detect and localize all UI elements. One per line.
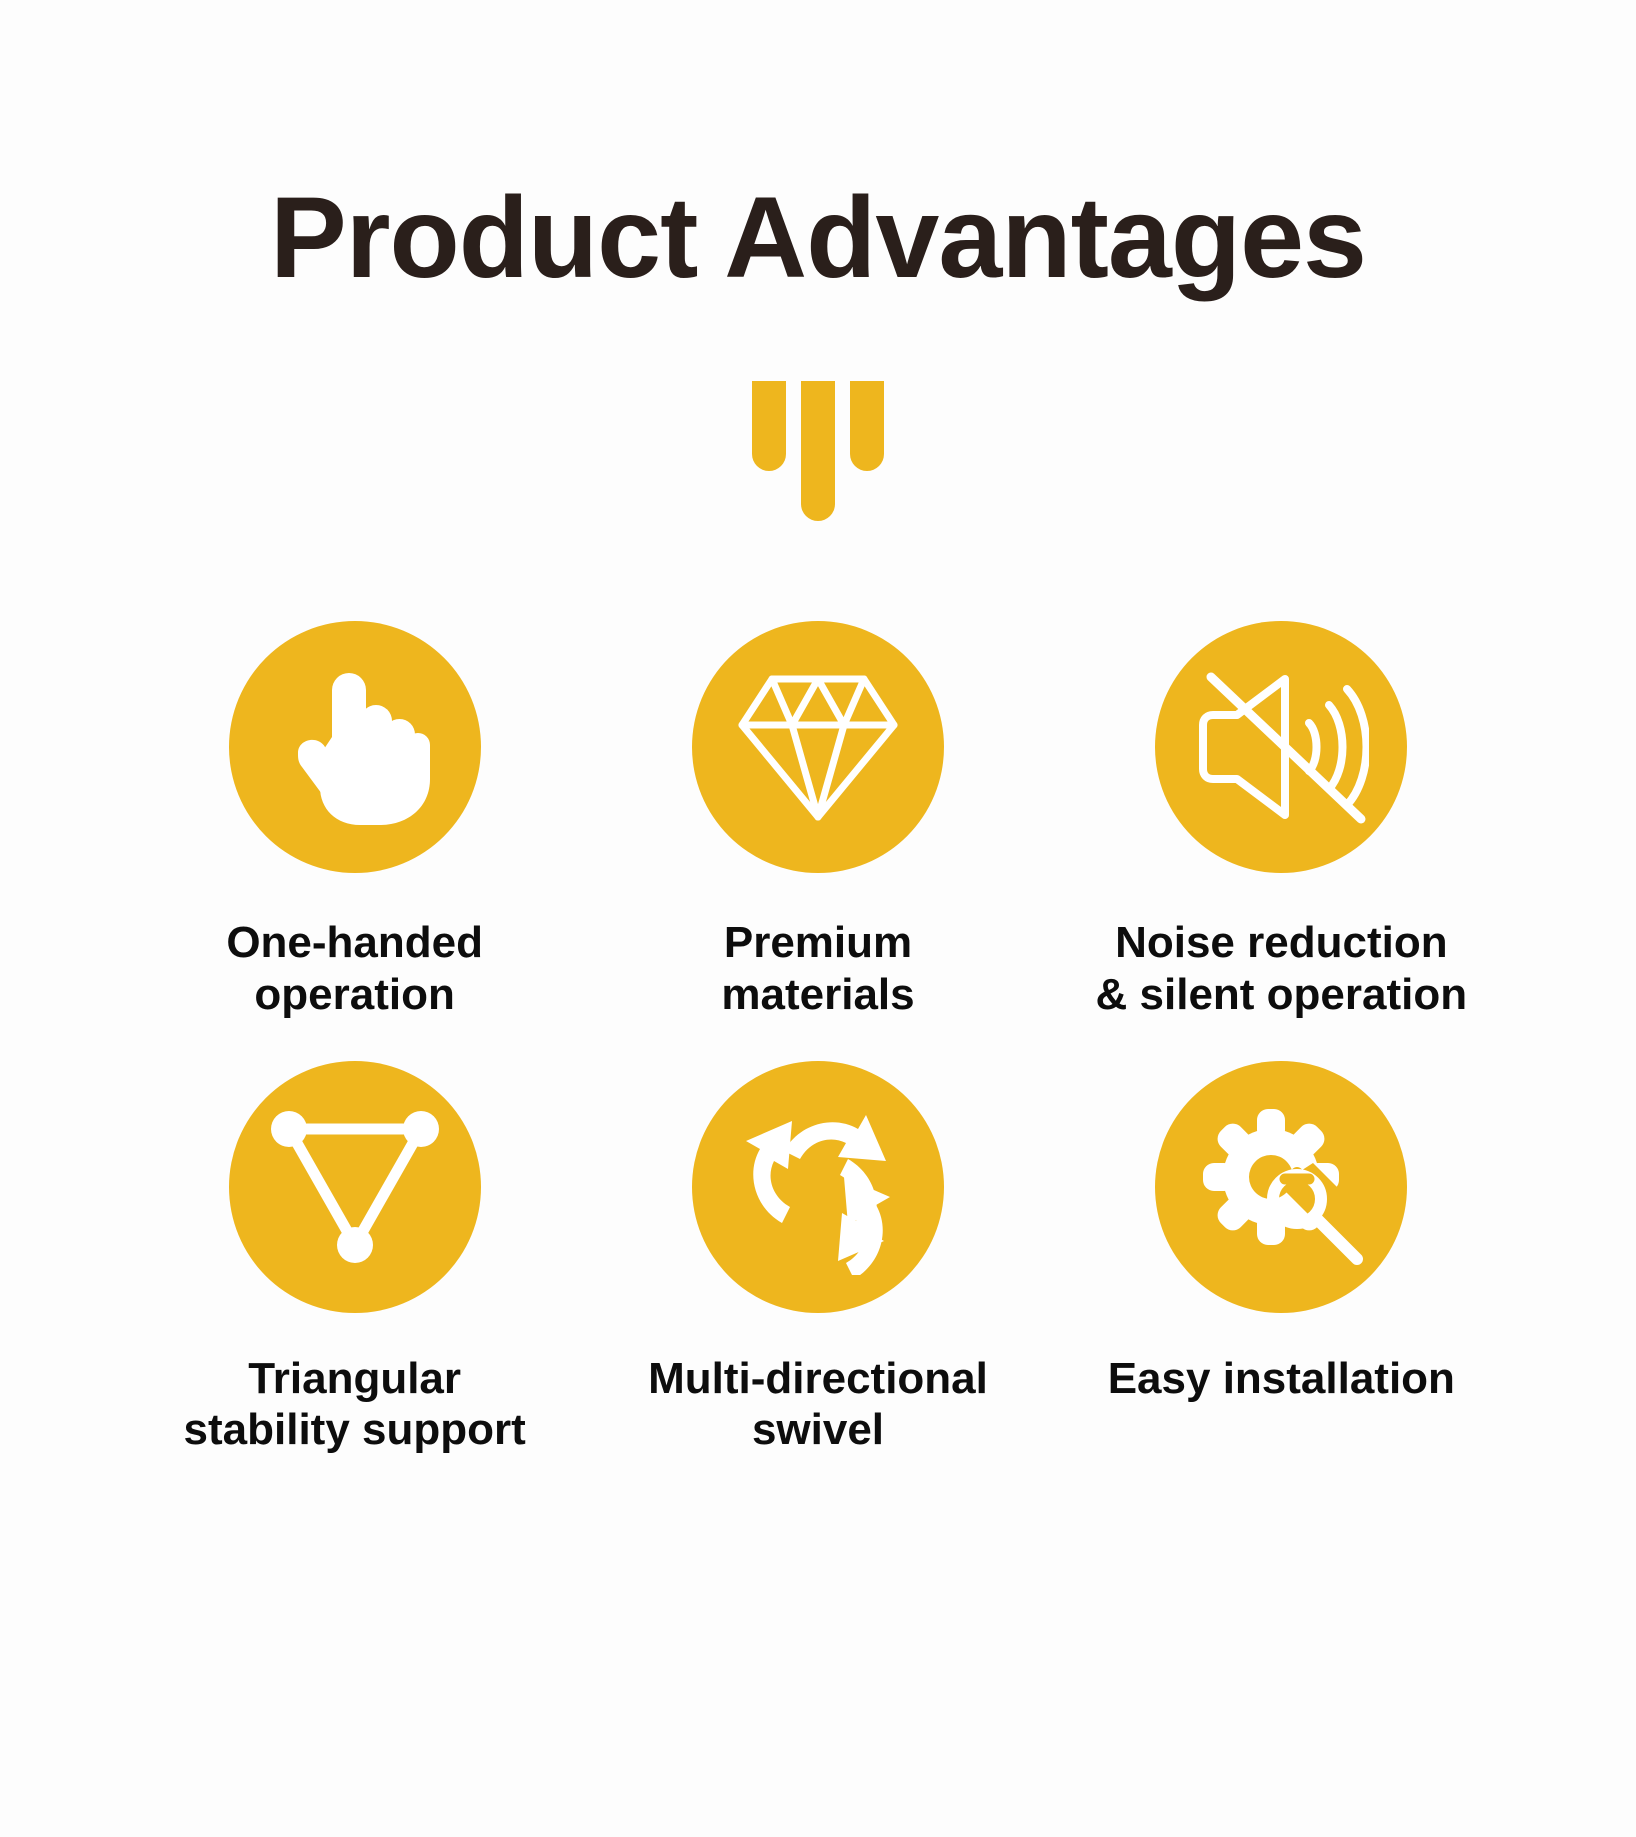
advantage-label: Multi-directional swivel [648, 1353, 988, 1457]
diamond-gem-icon [734, 667, 902, 827]
icon-badge-one-handed-operation [229, 621, 481, 873]
advantage-label: One-handed operation [226, 917, 483, 1021]
icon-badge-multi-directional-swivel [692, 1061, 944, 1313]
header-block: Product Advantages [0, 0, 1636, 529]
product-advantages-poster: Product Advantages [0, 0, 1636, 1837]
rotating-arrows-icon [730, 1099, 906, 1275]
accent-bar-middle [801, 381, 835, 521]
accent-bar-right [850, 381, 884, 471]
icon-badge-noise-reduction [1155, 621, 1407, 873]
advantage-grid: One-handed operation [123, 621, 1513, 1457]
accent-bar-left [752, 381, 786, 471]
pointing-hand-icon [280, 667, 430, 827]
advantage-label: Premium materials [721, 917, 914, 1021]
gear-wrench-icon [1193, 1099, 1369, 1275]
icon-badge-triangular-stability [229, 1061, 481, 1313]
advantage-item-multi-directional-swivel: Multi-directional swivel [586, 1061, 1049, 1457]
advantage-item-triangular-stability: Triangular stability support [123, 1061, 586, 1457]
advantage-label: Easy installation [1108, 1353, 1455, 1405]
page-title: Product Advantages [270, 178, 1366, 299]
advantage-label: Triangular stability support [184, 1353, 526, 1457]
triangle-nodes-icon [269, 1107, 441, 1267]
advantage-item-premium-materials: Premium materials [586, 621, 1049, 1021]
advantage-label: Noise reduction & silent operation [1096, 917, 1468, 1021]
advantage-item-noise-reduction: Noise reduction & silent operation [1050, 621, 1513, 1021]
muted-speaker-icon [1193, 669, 1369, 825]
advantage-item-easy-installation: Easy installation [1050, 1061, 1513, 1457]
advantage-item-one-handed-operation: One-handed operation [123, 621, 586, 1021]
icon-badge-easy-installation [1155, 1061, 1407, 1313]
icon-badge-premium-materials [692, 621, 944, 873]
three-bar-accent-icon [752, 381, 884, 529]
